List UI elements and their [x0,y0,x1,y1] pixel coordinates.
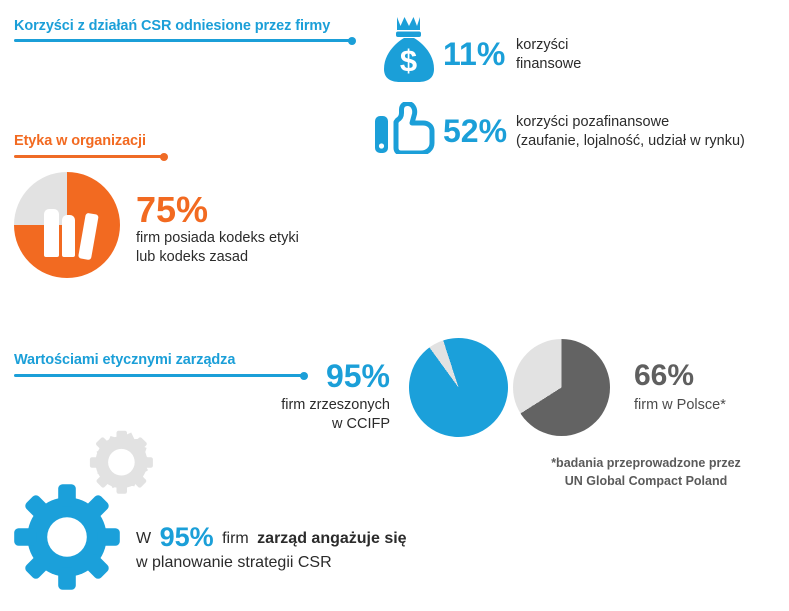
values-heading: Wartościami etycznymi zarządza [14,352,235,368]
ethics-pie-chart [14,172,120,278]
values-ccifp-pie-chart [396,325,521,450]
book-icon-1 [44,209,59,257]
thumbs-up-icon [374,102,440,154]
benefits-label-financial-line2: finansowe [516,55,581,74]
values-ccifp-label-line1: firm zrzeszonych [235,396,390,415]
ethics-heading: Etyka w organizacji [14,133,146,149]
values-ccifp-label-line2: w CCIFP [235,415,390,434]
benefits-label-financial: korzyści finansowe [516,36,581,73]
benefits-rule [14,39,354,42]
values-footnote: *badania przeprowadzone przez UN Global … [508,455,784,491]
benefits-label-financial-line1: korzyści [516,36,581,55]
gear-icon-blue [12,482,122,592]
book-icon-2 [62,215,75,257]
benefits-heading: Korzyści z działań CSR odniesione przez … [14,18,330,34]
board-prefix: W [136,530,151,547]
benefits-label-nonfinancial: korzyści pozafinansowe (zaufanie, lojaln… [516,113,745,150]
board-mid-text: firm [222,530,249,547]
board-stat-line2: w planowanie strategii CSR [136,553,332,573]
values-footnote-line1: *badania przeprowadzone przez [508,455,784,473]
benefits-value-nonfinancial: 52% [443,115,507,147]
values-poland-label: firm w Polsce* [634,396,726,415]
ethics-rule [14,155,166,158]
values-poland-value: 66% [634,361,694,391]
ethics-label: firm posiada kodeks etyki lub kodeks zas… [136,229,299,266]
board-value: 95% [160,522,214,552]
ethics-label-line1: firm posiada kodeks etyki [136,229,299,248]
benefits-label-nonfinancial-line1: korzyści pozafinansowe [516,113,745,132]
ethics-value: 75% [136,192,208,228]
values-poland-pie-chart [513,339,610,436]
benefits-rule-dot [348,37,356,45]
board-stat-line1: W 95% firm zarząd angażuje się [136,524,407,551]
svg-text:$: $ [400,43,417,78]
benefits-value-financial: 11% [443,38,505,70]
board-bold-text: zarząd angażuje się [257,530,406,547]
values-ccifp-label: firm zrzeszonych w CCIFP [235,396,390,433]
ethics-label-line2: lub kodeks zasad [136,248,299,267]
ethics-rule-dot [160,153,168,161]
infographic-canvas: Korzyści z działań CSR odniesione przez … [0,0,789,611]
values-footnote-line2: UN Global Compact Poland [508,473,784,491]
benefits-label-nonfinancial-line2: (zaufanie, lojalność, udział w rynku) [516,132,745,151]
money-bag-icon: $ [378,14,440,84]
values-ccifp-value: 95% [255,360,390,392]
